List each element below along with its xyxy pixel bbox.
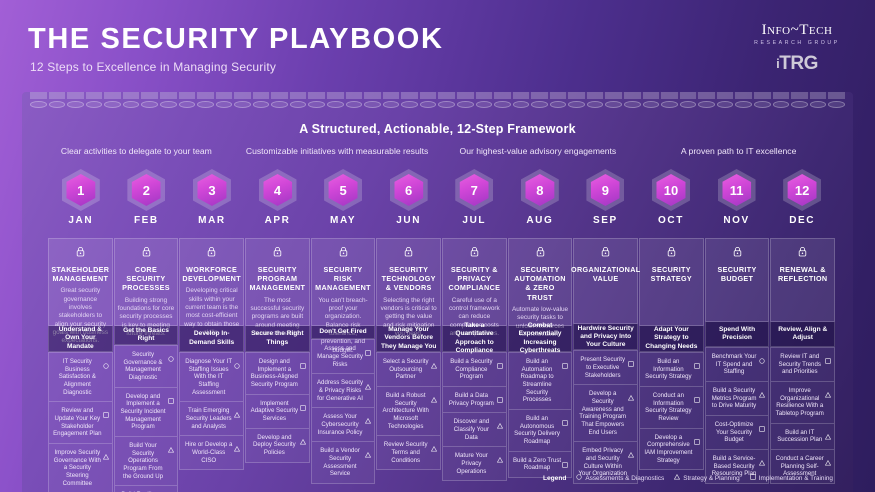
month-badge-apr[interactable]: 4APR xyxy=(245,168,311,226)
column-header: ORGANIZATIONAL VALUE xyxy=(573,238,638,324)
column-theme: Understand & Own Your Mandate xyxy=(48,326,113,352)
column-items: Build an Information Security StrategyCo… xyxy=(639,352,704,484)
binder-tab xyxy=(680,92,697,99)
column-theme: Secure the Right Things xyxy=(245,326,310,352)
item-label: Discover and Classify Your Data xyxy=(447,418,496,441)
list-item[interactable]: Assess Your Cybersecurity Insurance Poli… xyxy=(311,408,376,442)
list-item[interactable]: Diagnose Your IT Staffing Issues With th… xyxy=(179,352,244,402)
binder-ring xyxy=(735,101,752,108)
list-item[interactable]: Build a Vendor Security Assessment Servi… xyxy=(311,442,376,484)
playbook-grid: STAKEHOLDER MANAGEMENTGreat security gov… xyxy=(48,238,835,484)
hexagon-icon: 6 xyxy=(389,168,429,212)
list-item[interactable]: Design and Implement a Business-Aligned … xyxy=(245,352,310,395)
item-label: Cost-Optimize Your Security Budget xyxy=(710,421,759,444)
playbook-column-nov: SECURITY BUDGETSpend With PrecisionBench… xyxy=(705,238,770,484)
promise-4: A proven path to IT excellence xyxy=(638,146,839,156)
binder-tab xyxy=(438,92,455,99)
column-title: SECURITY BUDGET xyxy=(709,265,766,283)
binder-ring xyxy=(698,101,715,108)
month-badge-feb[interactable]: 2FEB xyxy=(114,168,180,226)
column-theme-label: Understand & Own Your Mandate xyxy=(51,326,110,350)
playbook-column-jun: SECURITY TECHNOLOGY & VENDORSSelecting t… xyxy=(376,238,441,484)
month-badge-nov[interactable]: 11NOV xyxy=(704,168,770,226)
framework-headline: A Structured, Actionable, 12-Step Framew… xyxy=(22,122,853,136)
triangle-marker-icon xyxy=(497,416,503,422)
list-item[interactable]: Build a Robust Security Architecture Wit… xyxy=(376,387,441,436)
binder-tab xyxy=(568,92,585,99)
page-title: THE SECURITY PLAYBOOK xyxy=(28,23,444,56)
hexagon-icon: 4 xyxy=(258,168,298,212)
list-item[interactable]: Develop a Comprehensive IAM Improvement … xyxy=(639,429,704,471)
list-item[interactable]: Address Security & Privacy Risks for Gen… xyxy=(311,374,376,408)
item-label: Train Emerging Security Leaders and Anal… xyxy=(184,407,233,430)
legend: Legend Assessments & DiagnosticsStrategy… xyxy=(543,474,833,482)
triangle-marker-icon xyxy=(431,390,437,396)
lock-icon xyxy=(470,244,479,262)
binder-ring xyxy=(810,101,827,108)
binder-ring xyxy=(494,101,511,108)
binder-tab xyxy=(457,92,474,99)
item-label: Develop a Security Awareness and Trainin… xyxy=(578,390,627,436)
binder-tab xyxy=(791,92,808,99)
list-item[interactable]: Review and Update Your Key Stakeholder E… xyxy=(48,402,113,444)
legend-item-label: Strategy & Planning xyxy=(683,475,740,482)
binder-tab xyxy=(86,92,103,99)
column-items: Build an Automation Roadmap to Streamlin… xyxy=(508,352,573,484)
binder-tab xyxy=(643,92,660,99)
binder-ring xyxy=(476,101,493,108)
month-label: SEP xyxy=(573,215,639,226)
binder-tab xyxy=(550,92,567,99)
column-items: Present Security to Executive Stakeholde… xyxy=(573,350,638,484)
binder-ring xyxy=(346,101,363,108)
item-label: Mature Your Privacy Operations xyxy=(447,452,496,475)
binder-tab xyxy=(735,92,752,99)
column-header: CORE SECURITY PROCESSESBuilding strong f… xyxy=(114,238,179,326)
month-number: 9 xyxy=(602,184,609,197)
binder-ring xyxy=(828,101,845,108)
binder-tab xyxy=(364,92,381,99)
month-number: 11 xyxy=(730,184,744,197)
item-label: Benchmark Your IT Spend and Staffing xyxy=(710,353,759,376)
binder-ring xyxy=(30,101,47,108)
triangle-legend-icon xyxy=(674,474,680,482)
column-header: STAKEHOLDER MANAGEMENTGreat security gov… xyxy=(48,238,113,326)
square-marker-icon xyxy=(497,356,503,362)
column-theme-label: Adapt Your Strategy to Changing Needs xyxy=(642,326,701,350)
binder-ring xyxy=(364,101,381,108)
month-label: DEC xyxy=(769,215,835,226)
item-label: Review IT and Security Trends and Priori… xyxy=(775,353,824,376)
month-badge-mar[interactable]: 3MAR xyxy=(179,168,245,226)
item-label: Assess Your Cybersecurity Insurance Poli… xyxy=(316,413,365,436)
list-item[interactable]: Build Your Security Operations Program F… xyxy=(114,437,179,486)
triangle-marker-icon xyxy=(825,453,831,459)
binder-tab xyxy=(531,92,548,99)
promise-3: Our highest-value advisory engagements xyxy=(438,146,639,156)
list-item[interactable]: Build an Information Security Strategy xyxy=(639,352,704,387)
list-item[interactable]: Develop and Implement a Security Inciden… xyxy=(114,388,179,437)
list-item[interactable]: Discover and Classify Your Data xyxy=(442,413,507,447)
binder-ring xyxy=(290,101,307,108)
item-label: Improve Security Governance With a Secur… xyxy=(53,449,102,487)
binder-tab xyxy=(141,92,158,99)
binder-ring xyxy=(568,101,585,108)
square-marker-icon xyxy=(300,398,306,404)
list-item[interactable]: Develop a Security Awareness and Trainin… xyxy=(573,385,638,442)
square-marker-icon xyxy=(628,354,634,360)
column-theme: Hardwire Security and Privacy Into Your … xyxy=(573,324,638,350)
circle-marker-icon xyxy=(234,356,240,362)
binder-tab xyxy=(828,92,845,99)
item-label: Hire or Develop a World-Class CISO xyxy=(184,441,233,464)
month-badge-aug[interactable]: 8AUG xyxy=(507,168,573,226)
item-label: Develop a Comprehensive IAM Improvement … xyxy=(644,434,693,465)
list-item[interactable]: Security Governance & Management Diagnos… xyxy=(114,345,179,388)
binder-ring xyxy=(624,101,641,108)
column-header: SECURITY AUTOMATION & ZERO TRUSTAutomate… xyxy=(508,238,573,326)
column-items: Assess and Manage Security RisksAddress … xyxy=(311,339,376,484)
item-label: IT Security Business Satisfaction & Alig… xyxy=(53,358,102,396)
month-label: FEB xyxy=(114,215,180,226)
item-label: Assess and Manage Security Risks xyxy=(316,345,365,368)
binder-ring xyxy=(383,101,400,108)
binder-tabs xyxy=(22,92,853,99)
playbook-column-sep: ORGANIZATIONAL VALUEHardwire Security an… xyxy=(573,238,638,484)
list-item[interactable]: Build a Data Privacy Program xyxy=(442,387,507,413)
month-label: OCT xyxy=(638,215,704,226)
binder-tab xyxy=(494,92,511,99)
list-item[interactable]: Review Security Terms and Conditions xyxy=(376,436,441,470)
square-marker-icon xyxy=(694,356,700,362)
triangle-marker-icon xyxy=(431,439,437,445)
binder-ring xyxy=(104,101,121,108)
circle-marker-icon xyxy=(168,349,174,355)
triangle-marker-icon xyxy=(759,385,765,391)
circle-legend-icon xyxy=(576,474,582,482)
binder-ring xyxy=(271,101,288,108)
column-title: SECURITY TECHNOLOGY & VENDORS xyxy=(380,265,437,293)
month-label: APR xyxy=(245,215,311,226)
column-title: STAKEHOLDER MANAGEMENT xyxy=(51,265,109,283)
list-item[interactable]: Develop and Deploy Security Policies xyxy=(245,429,310,463)
promise-1: Clear activities to delegate to your tea… xyxy=(36,146,237,156)
binder-tab xyxy=(346,92,363,99)
lock-icon xyxy=(601,244,610,262)
column-title: SECURITY STRATEGY xyxy=(643,265,700,283)
item-label: Build an Autonomous Security Delivery Ro… xyxy=(513,415,562,446)
item-label: Review Security Terms and Conditions xyxy=(381,441,430,464)
item-label: Diagnose Your IT Staffing Issues With th… xyxy=(184,358,233,396)
column-title: SECURITY RISK MANAGEMENT xyxy=(315,265,372,293)
list-item[interactable]: Present Security to Executive Stakeholde… xyxy=(573,350,638,385)
promise-2: Customizable initiatives with measurable… xyxy=(237,146,438,156)
hexagon-icon: 9 xyxy=(585,168,625,212)
item-label: Develop and Deploy Security Policies xyxy=(250,434,299,457)
triangle-marker-icon xyxy=(628,445,634,451)
legend-item-label: Assessments & Diagnostics xyxy=(585,475,664,482)
triangle-marker-icon xyxy=(365,445,371,451)
lock-icon xyxy=(273,244,282,262)
column-theme: Spend With Precision xyxy=(705,322,770,347)
month-number: 10 xyxy=(664,184,678,197)
hexagon-icon: 5 xyxy=(323,168,363,212)
month-label: JUN xyxy=(376,215,442,226)
binder-tab xyxy=(104,92,121,99)
month-badge-jun[interactable]: 6JUN xyxy=(376,168,442,226)
hexagon-icon: 8 xyxy=(520,168,560,212)
list-item[interactable]: Build an Automation Roadmap to Streamlin… xyxy=(508,352,573,410)
column-title: SECURITY PROGRAM MANAGEMENT xyxy=(249,265,306,293)
playbook-panel: A Structured, Actionable, 12-Step Framew… xyxy=(22,92,853,492)
lock-icon xyxy=(404,244,413,262)
column-header: SECURITY TECHNOLOGY & VENDORSSelecting t… xyxy=(376,238,441,326)
triangle-marker-icon xyxy=(825,385,831,391)
promise-row: Clear activities to delegate to your tea… xyxy=(22,146,853,156)
triangle-marker-icon xyxy=(431,356,437,362)
item-label: Build an Automation Roadmap to Streamlin… xyxy=(513,358,562,404)
hexagon-icon: 10 xyxy=(651,168,691,212)
column-header: SECURITY PROGRAM MANAGEMENTThe most succ… xyxy=(245,238,310,326)
column-items: Build a Security Compliance ProgramBuild… xyxy=(442,352,507,484)
binder-tab xyxy=(67,92,84,99)
column-title: SECURITY AUTOMATION & ZERO TRUST xyxy=(512,265,569,302)
item-label: Present Security to Executive Stakeholde… xyxy=(578,356,627,379)
binder-ring xyxy=(773,101,790,108)
square-marker-icon xyxy=(694,390,700,396)
binder-ring xyxy=(513,101,530,108)
month-badge-dec[interactable]: 12DEC xyxy=(769,168,835,226)
list-item[interactable]: Improve Security Governance With a Secur… xyxy=(48,444,113,492)
month-number: 4 xyxy=(274,184,281,197)
list-item[interactable]: Build Resilience Against Ransomware Atta… xyxy=(114,486,179,492)
column-theme-label: Don't Get Fired xyxy=(319,328,366,336)
column-theme-label: Hardwire Security and Privacy Into Your … xyxy=(576,325,635,349)
column-theme-label: Get the Basics Right xyxy=(117,327,176,343)
playbook-column-feb: CORE SECURITY PROCESSESBuilding strong f… xyxy=(114,238,179,484)
binder-tab xyxy=(698,92,715,99)
binder-tab xyxy=(587,92,604,99)
circle-marker-icon xyxy=(759,351,765,357)
playbook-column-oct: SECURITY STRATEGYAdapt Your Strategy to … xyxy=(639,238,704,484)
list-item[interactable]: Cost-Optimize Your Security Budget xyxy=(705,416,770,450)
column-theme-label: Develop In-Demand Skills xyxy=(182,330,241,346)
binder-tab xyxy=(290,92,307,99)
column-theme: Combat Exponentially Increasing Cyberthr… xyxy=(508,326,573,352)
column-items: Benchmark Your IT Spend and StaffingBuil… xyxy=(705,347,770,484)
item-label: Build a Security Metrics Program to Driv… xyxy=(710,387,759,410)
list-item[interactable]: Hire or Develop a World-Class CISO xyxy=(179,436,244,470)
list-item[interactable]: Build a Security Compliance Program xyxy=(442,352,507,387)
binder-tab xyxy=(383,92,400,99)
binder-ring xyxy=(643,101,660,108)
item-label: Build Your Security Operations Program F… xyxy=(119,442,168,480)
binder-ring xyxy=(791,101,808,108)
item-label: Improve Organizational Resilience With a… xyxy=(775,387,824,418)
binder-ring xyxy=(67,101,84,108)
list-item[interactable]: Benchmark Your IT Spend and Staffing xyxy=(705,347,770,382)
binder-ring xyxy=(234,101,251,108)
item-label: Build a Vendor Security Assessment Servi… xyxy=(316,447,365,478)
list-item[interactable]: Train Emerging Security Leaders and Anal… xyxy=(179,402,244,436)
column-theme: Review, Align & Adjust xyxy=(770,322,835,347)
month-badge-may[interactable]: 5MAY xyxy=(310,168,376,226)
binder-ring xyxy=(457,101,474,108)
month-label: MAR xyxy=(179,215,245,226)
column-header: SECURITY BUDGET xyxy=(705,238,770,322)
legend-item-circle: Assessments & Diagnostics xyxy=(576,474,664,482)
column-theme: Develop In-Demand Skills xyxy=(179,326,244,352)
lock-icon xyxy=(207,244,216,262)
square-marker-icon xyxy=(562,356,568,362)
binder-ring xyxy=(160,101,177,108)
column-theme: Adapt Your Strategy to Changing Needs xyxy=(639,326,704,352)
binder-tab xyxy=(271,92,288,99)
square-marker-icon xyxy=(365,343,371,349)
square-marker-icon xyxy=(562,413,568,419)
column-items: Design and Implement a Business-Aligned … xyxy=(245,352,310,484)
column-theme-label: Spend With Precision xyxy=(708,326,767,342)
binder-tab xyxy=(216,92,233,99)
binder-ring xyxy=(327,101,344,108)
square-marker-icon xyxy=(497,390,503,396)
month-badge-oct[interactable]: 10OCT xyxy=(638,168,704,226)
binder-tab xyxy=(179,92,196,99)
column-theme: Manage Your Vendors Before They Manage Y… xyxy=(376,326,441,352)
binder-ring xyxy=(401,101,418,108)
list-item[interactable]: Build an IT Succession Plan xyxy=(770,424,835,450)
column-title: SECURITY & PRIVACY COMPLIANCE xyxy=(446,265,503,293)
lock-icon xyxy=(667,244,676,262)
binder-ring xyxy=(754,101,771,108)
lock-icon xyxy=(733,244,742,262)
binder-tab xyxy=(160,92,177,99)
item-label: Implement Adaptive Security Services xyxy=(250,400,299,423)
logo-itrg-rest: TRG xyxy=(779,53,818,74)
triangle-marker-icon xyxy=(628,388,634,394)
page-subtitle: 12 Steps to Excellence in Managing Secur… xyxy=(30,60,276,74)
month-label: AUG xyxy=(507,215,573,226)
infographic-page: THE SECURITY PLAYBOOK 12 Steps to Excell… xyxy=(0,0,875,492)
binder-tab xyxy=(197,92,214,99)
binder-ring xyxy=(680,101,697,108)
hexagon-icon: 11 xyxy=(717,168,757,212)
item-label: Select a Security Outsourcing Partner xyxy=(381,358,430,381)
binder-ring xyxy=(308,101,325,108)
item-label: Build a Robust Security Architecture Wit… xyxy=(381,392,430,430)
list-item[interactable]: Implement Adaptive Security Services xyxy=(245,395,310,429)
column-theme-label: Combat Exponentially Increasing Cyberthr… xyxy=(511,322,570,354)
square-marker-icon xyxy=(103,405,109,411)
hexagon-icon: 7 xyxy=(454,168,494,212)
column-header: WORKFORCE DEVELOPMENTDeveloping critical… xyxy=(179,238,244,326)
lock-icon xyxy=(798,244,807,262)
list-item[interactable]: Select a Security Outsourcing Partner xyxy=(376,352,441,387)
hexagon-icon: 12 xyxy=(782,168,822,212)
list-item[interactable]: Build a Security Metrics Program to Driv… xyxy=(705,382,770,416)
binder-tab xyxy=(754,92,771,99)
list-item[interactable]: Build an Autonomous Security Delivery Ro… xyxy=(508,410,573,452)
triangle-marker-icon xyxy=(759,453,765,459)
binder-ring xyxy=(661,101,678,108)
item-label: Design and Implement a Business-Aligned … xyxy=(250,358,299,389)
hexagon-icon: 1 xyxy=(61,168,101,212)
item-label: Security Governance & Management Diagnos… xyxy=(119,351,168,382)
triangle-marker-icon xyxy=(168,440,174,446)
list-item[interactable]: Improve Organizational Resilience With a… xyxy=(770,382,835,424)
binder-ring xyxy=(420,101,437,108)
brand-logo: Info~Tech RESEARCH GROUP iTRG xyxy=(737,22,857,75)
triangle-marker-icon xyxy=(365,411,371,417)
month-badge-jan[interactable]: 1JAN xyxy=(48,168,114,226)
month-label: JAN xyxy=(48,215,114,226)
month-badge-sep[interactable]: 9SEP xyxy=(573,168,639,226)
logo-wordmark: Info~Tech xyxy=(737,22,857,39)
column-title: WORKFORCE DEVELOPMENT xyxy=(182,265,241,283)
list-item[interactable]: IT Security Business Satisfaction & Alig… xyxy=(48,352,113,402)
column-title: CORE SECURITY PROCESSES xyxy=(118,265,175,293)
month-number: 12 xyxy=(795,184,809,197)
binder-ring xyxy=(123,101,140,108)
column-title: RENEWAL & REFLECTION xyxy=(774,265,831,283)
list-item[interactable]: Conduct an Information Security Strategy… xyxy=(639,387,704,429)
binder-ring xyxy=(531,101,548,108)
list-item[interactable]: Assess and Manage Security Risks xyxy=(311,339,376,374)
hexagon-icon: 2 xyxy=(126,168,166,212)
item-label: Build an IT Succession Plan xyxy=(775,429,824,444)
playbook-column-apr: SECURITY PROGRAM MANAGEMENTThe most succ… xyxy=(245,238,310,484)
binder-tab xyxy=(327,92,344,99)
column-items: Security Governance & Management Diagnos… xyxy=(114,345,179,492)
list-item[interactable]: Review IT and Security Trends and Priori… xyxy=(770,347,835,382)
square-marker-icon xyxy=(562,455,568,461)
month-number: 6 xyxy=(405,184,412,197)
legend-item-label: Implementation & Training xyxy=(759,475,833,482)
binder-ring xyxy=(605,101,622,108)
month-label: MAY xyxy=(310,215,376,226)
triangle-marker-icon xyxy=(234,439,240,445)
column-theme: Take a Quantitative Approach to Complian… xyxy=(442,326,507,352)
page-header: THE SECURITY PLAYBOOK 12 Steps to Excell… xyxy=(0,0,875,96)
month-badge-jul[interactable]: 7JUL xyxy=(441,168,507,226)
column-theme: Don't Get Fired xyxy=(311,326,376,339)
lock-icon xyxy=(76,244,85,262)
playbook-column-aug: SECURITY AUTOMATION & ZERO TRUSTAutomate… xyxy=(508,238,573,484)
triangle-marker-icon xyxy=(234,405,240,411)
month-row: 1JAN2FEB3MAR4APR5MAY6JUN7JUL8AUG9SEP10OC… xyxy=(48,168,835,226)
binder-tab xyxy=(253,92,270,99)
column-theme: Get the Basics Right xyxy=(114,326,179,345)
binder-tab xyxy=(401,92,418,99)
binder-ring xyxy=(216,101,233,108)
binder-tab xyxy=(420,92,437,99)
binder-tab xyxy=(123,92,140,99)
lock-icon xyxy=(339,244,348,262)
binder-tab xyxy=(661,92,678,99)
item-label: Develop and Implement a Security Inciden… xyxy=(119,393,168,431)
square-marker-icon xyxy=(694,432,700,438)
binder-tab xyxy=(234,92,251,99)
list-item[interactable]: Mature Your Privacy Operations xyxy=(442,447,507,481)
triangle-marker-icon xyxy=(300,432,306,438)
legend-item-triangle: Strategy & Planning xyxy=(674,474,740,482)
playbook-column-jul: SECURITY & PRIVACY COMPLIANCECareful use… xyxy=(442,238,507,484)
column-items: Review IT and Security Trends and Priori… xyxy=(770,347,835,484)
binder-ring xyxy=(49,101,66,108)
playbook-column-jan: STAKEHOLDER MANAGEMENTGreat security gov… xyxy=(48,238,113,484)
binder-ring xyxy=(86,101,103,108)
month-number: 8 xyxy=(536,184,543,197)
